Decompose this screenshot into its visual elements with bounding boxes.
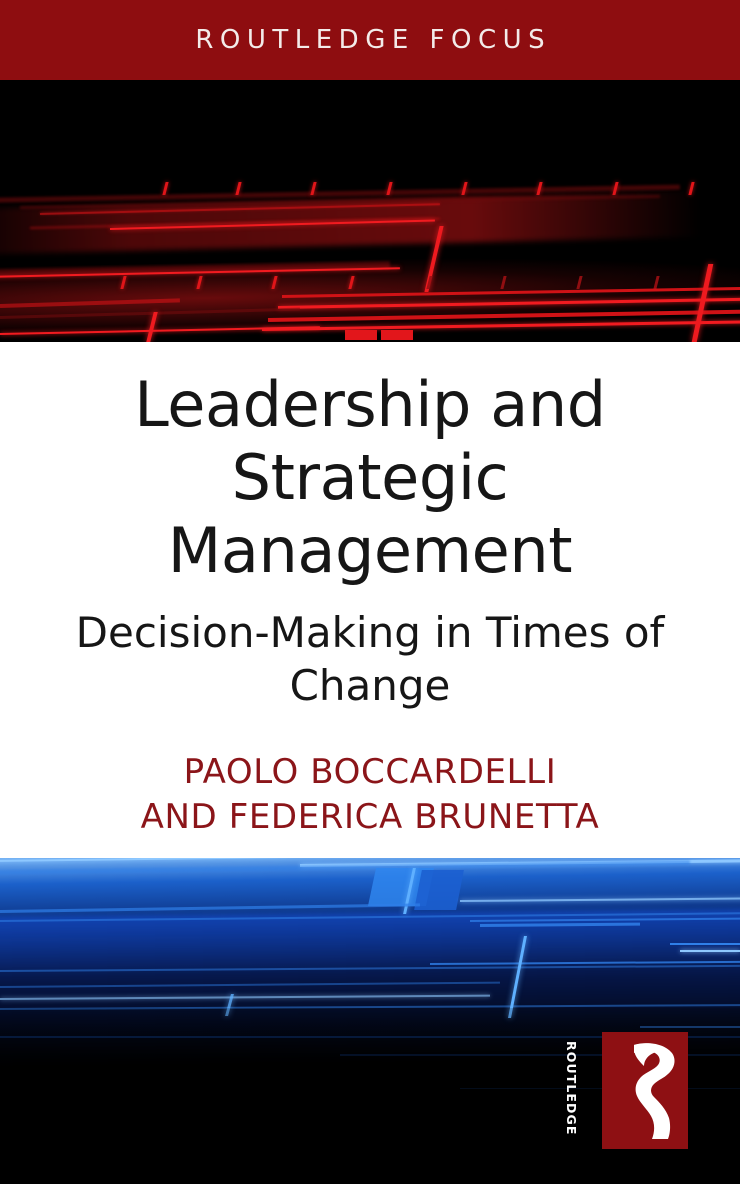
blue-streak: [460, 1088, 740, 1089]
red-tick: [612, 182, 618, 195]
red-tick: [271, 276, 277, 289]
book-title: Leadership and Strategic Management: [0, 368, 740, 587]
title-line-3: Management: [0, 514, 740, 587]
book-authors: PAOLO BOCCARDELLI AND FEDERICA BRUNETTA: [0, 750, 740, 840]
red-tick: [576, 276, 582, 289]
subtitle-line-2: Change: [0, 660, 740, 713]
top-artwork-red: [0, 80, 740, 342]
red-tick-row-lower: [0, 276, 740, 290]
blue-streak: [670, 943, 740, 945]
red-tick: [196, 276, 202, 289]
book-cover: ROUTLEDGE FOCUS: [0, 0, 740, 1184]
series-banner: ROUTLEDGE FOCUS: [0, 0, 740, 80]
red-tick: [653, 276, 659, 289]
type-panel: Leadership and Strategic Management Deci…: [0, 342, 740, 858]
book-subtitle: Decision-Making in Times of Change: [0, 607, 740, 713]
red-tick: [162, 182, 168, 195]
red-tick: [235, 182, 241, 195]
red-tick: [688, 182, 694, 195]
subtitle-line-1: Decision-Making in Times of: [0, 607, 740, 660]
red-tick: [500, 276, 506, 289]
red-block: [381, 330, 413, 340]
title-line-1: Leadership and: [0, 368, 740, 441]
author-line-1: PAOLO BOCCARDELLI: [0, 750, 740, 795]
author-line-2: AND FEDERICA BRUNETTA: [0, 795, 740, 840]
routledge-logo: ROUTLEDGE: [602, 1032, 688, 1149]
blue-streak-bright: [680, 950, 740, 952]
red-tick: [120, 276, 126, 289]
red-tick: [310, 182, 316, 195]
red-tick: [536, 182, 542, 195]
series-banner-label: ROUTLEDGE FOCUS: [189, 25, 551, 55]
red-tick-row-upper: [0, 182, 740, 196]
red-tick: [348, 276, 354, 289]
red-tick: [461, 182, 467, 195]
red-block: [345, 330, 377, 340]
red-tick: [386, 182, 392, 195]
blue-facet: [414, 870, 464, 910]
red-tick: [426, 276, 432, 289]
routledge-r-face-icon: [624, 1039, 682, 1143]
title-line-2: Strategic: [0, 441, 740, 514]
routledge-wordmark-text: ROUTLEDGE: [564, 1041, 579, 1136]
